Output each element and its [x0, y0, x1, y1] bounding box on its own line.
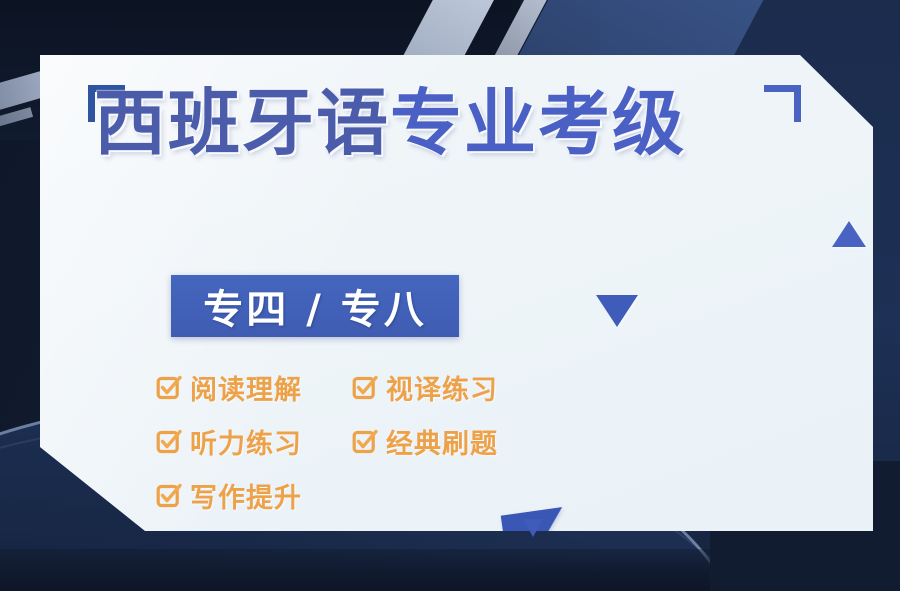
checkbox-checked-icon: [156, 429, 181, 454]
list-item: 写作提升: [156, 468, 352, 522]
list-item-label: 阅读理解: [190, 368, 302, 407]
triangle-up-icon-small: [832, 221, 866, 247]
list-item: 视译练习: [352, 360, 548, 414]
page-title-part-two: 专业考级: [390, 81, 686, 165]
triangle-down-icon-small: [596, 295, 638, 327]
page-title: 西班牙语专业考级: [94, 87, 686, 159]
feature-checklist: 阅读理解 视译练习 听力练习: [156, 360, 576, 522]
list-item-label: 听力练习: [190, 422, 302, 461]
checkbox-checked-icon: [156, 375, 181, 400]
checkbox-checked-icon: [352, 429, 377, 454]
list-item: 经典刷题: [352, 414, 548, 468]
list-item-label: 经典刷题: [386, 422, 498, 461]
checkbox-checked-icon: [156, 483, 181, 508]
list-item: 阅读理解: [156, 360, 352, 414]
checkbox-checked-icon: [352, 375, 377, 400]
list-item-label: 视译练习: [386, 368, 498, 407]
level-badge-label: 专四 / 专八: [203, 277, 426, 335]
page-title-part-one: 西班牙语: [94, 81, 390, 165]
corner-bracket-icon-top-right: [764, 85, 801, 122]
level-badge: 专四 / 专八: [171, 275, 459, 337]
poster-canvas: 西班牙语专业考级 专四 / 专八 阅读理解: [0, 0, 900, 591]
content-card: 西班牙语专业考级 专四 / 专八 阅读理解: [40, 55, 873, 531]
list-item-label: 写作提升: [190, 476, 302, 515]
triangle-down-icon-bottom: [523, 519, 543, 537]
list-item: 听力练习: [156, 414, 352, 468]
